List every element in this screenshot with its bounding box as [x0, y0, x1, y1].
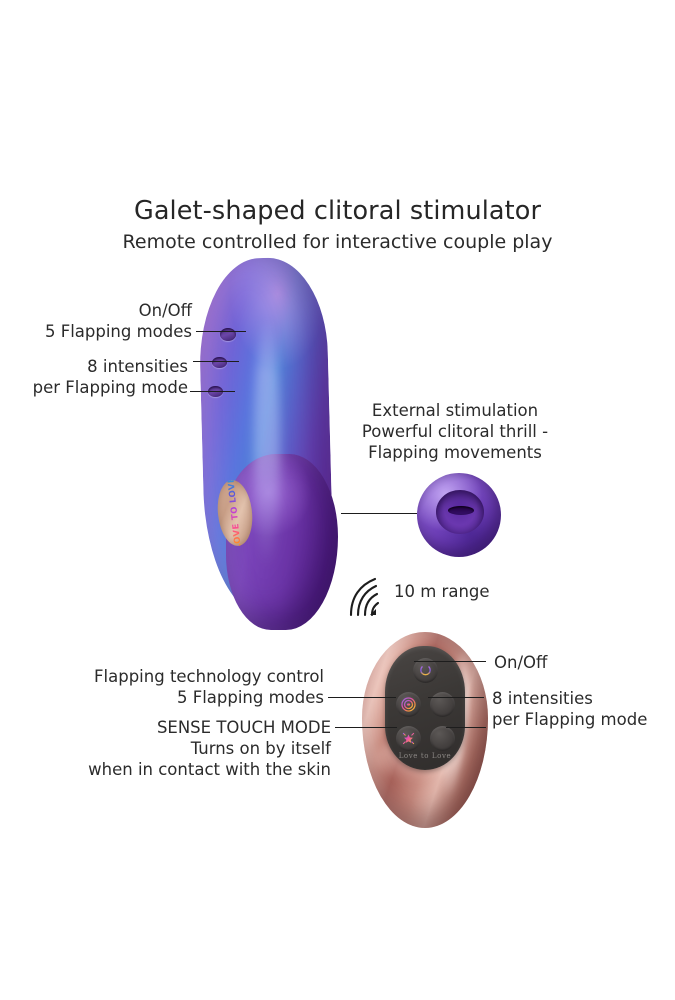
- leader-line-device-intensity-2: [190, 391, 235, 392]
- callout-external-line2: Powerful clitoral thrill -: [340, 421, 570, 442]
- callout-range-label: 10 m range: [394, 581, 554, 602]
- callout-device-modes-label: 5 Flapping modes: [8, 321, 192, 342]
- leader-line-device-intensity-1: [193, 361, 239, 362]
- stimulator-illustration: LOVE TO LOVE: [180, 258, 360, 618]
- nozzle-head-detail: [417, 473, 501, 557]
- callout-external-stimulation: External stimulation Powerful clitoral t…: [340, 400, 570, 463]
- page-title: Galet-shaped clitoral stimulator: [0, 196, 675, 226]
- stimulator-power-button[interactable]: [220, 328, 236, 341]
- signal-waves-icon: [345, 577, 391, 617]
- remote-intensity-up-button[interactable]: [430, 692, 455, 717]
- callout-device-intensity-line1: 8 intensities: [8, 356, 188, 377]
- callout-remote-onoff-label: On/Off: [494, 652, 654, 673]
- callout-external-line3: Flapping movements: [340, 442, 570, 463]
- callout-remote-intensity-line1: 8 intensities: [492, 688, 672, 709]
- callout-remote-onoff: On/Off: [494, 652, 654, 673]
- remote-button-panel: Love to Love: [385, 646, 465, 770]
- infographic-canvas: Galet-shaped clitoral stimulator Remote …: [0, 0, 675, 1000]
- callout-range: 10 m range: [394, 581, 554, 602]
- callout-remote-technology: Flapping technology control 5 Flapping m…: [40, 666, 324, 708]
- callout-remote-intensity-line2: per Flapping mode: [492, 709, 672, 730]
- remote-intensity-down-button[interactable]: [430, 726, 455, 751]
- nozzle-opening: [448, 506, 474, 515]
- leader-line-remote-intensity-1: [428, 697, 484, 698]
- leader-line-remote-intensity-2: [446, 727, 486, 728]
- callout-remote-tech-line2: 5 Flapping modes: [40, 687, 324, 708]
- page-subtitle: Remote controlled for interactive couple…: [0, 231, 675, 253]
- callout-device-onoff-modes: On/Off 5 Flapping modes: [8, 300, 192, 342]
- callout-external-line1: External stimulation: [340, 400, 570, 421]
- callout-device-intensity: 8 intensities per Flapping mode: [8, 356, 188, 398]
- callout-remote-sense-line2: Turns on by itself: [30, 738, 331, 759]
- callout-remote-sense-touch: SENSE TOUCH MODE Turns on by itself when…: [30, 717, 331, 780]
- remote-brand-text: Love to Love: [385, 752, 465, 760]
- stimulator-intensity-up-button[interactable]: [212, 357, 227, 368]
- callout-remote-tech-line1: Flapping technology control: [40, 666, 324, 687]
- remote-flapping-mode-button[interactable]: [396, 692, 421, 717]
- nozzle-inner-ring: [436, 490, 484, 534]
- leader-line-remote-sense: [335, 727, 397, 728]
- callout-remote-sense-line1: SENSE TOUCH MODE: [30, 717, 331, 738]
- leader-line-nozzle-detail: [341, 513, 417, 514]
- leader-line-remote-modes: [328, 697, 396, 698]
- leader-line-remote-onoff: [414, 661, 486, 662]
- callout-device-intensity-line2: per Flapping mode: [8, 377, 188, 398]
- stimulator-highlight: [254, 318, 280, 568]
- callout-remote-sense-line3: when in contact with the skin: [30, 759, 331, 780]
- remote-sense-touch-button[interactable]: [396, 726, 421, 751]
- leader-line-device-onoff: [196, 331, 246, 332]
- stimulator-badge-text: LOVE TO LOVE: [226, 478, 244, 547]
- callout-remote-intensity: 8 intensities per Flapping mode: [492, 688, 672, 730]
- callout-device-onoff-label: On/Off: [8, 300, 192, 321]
